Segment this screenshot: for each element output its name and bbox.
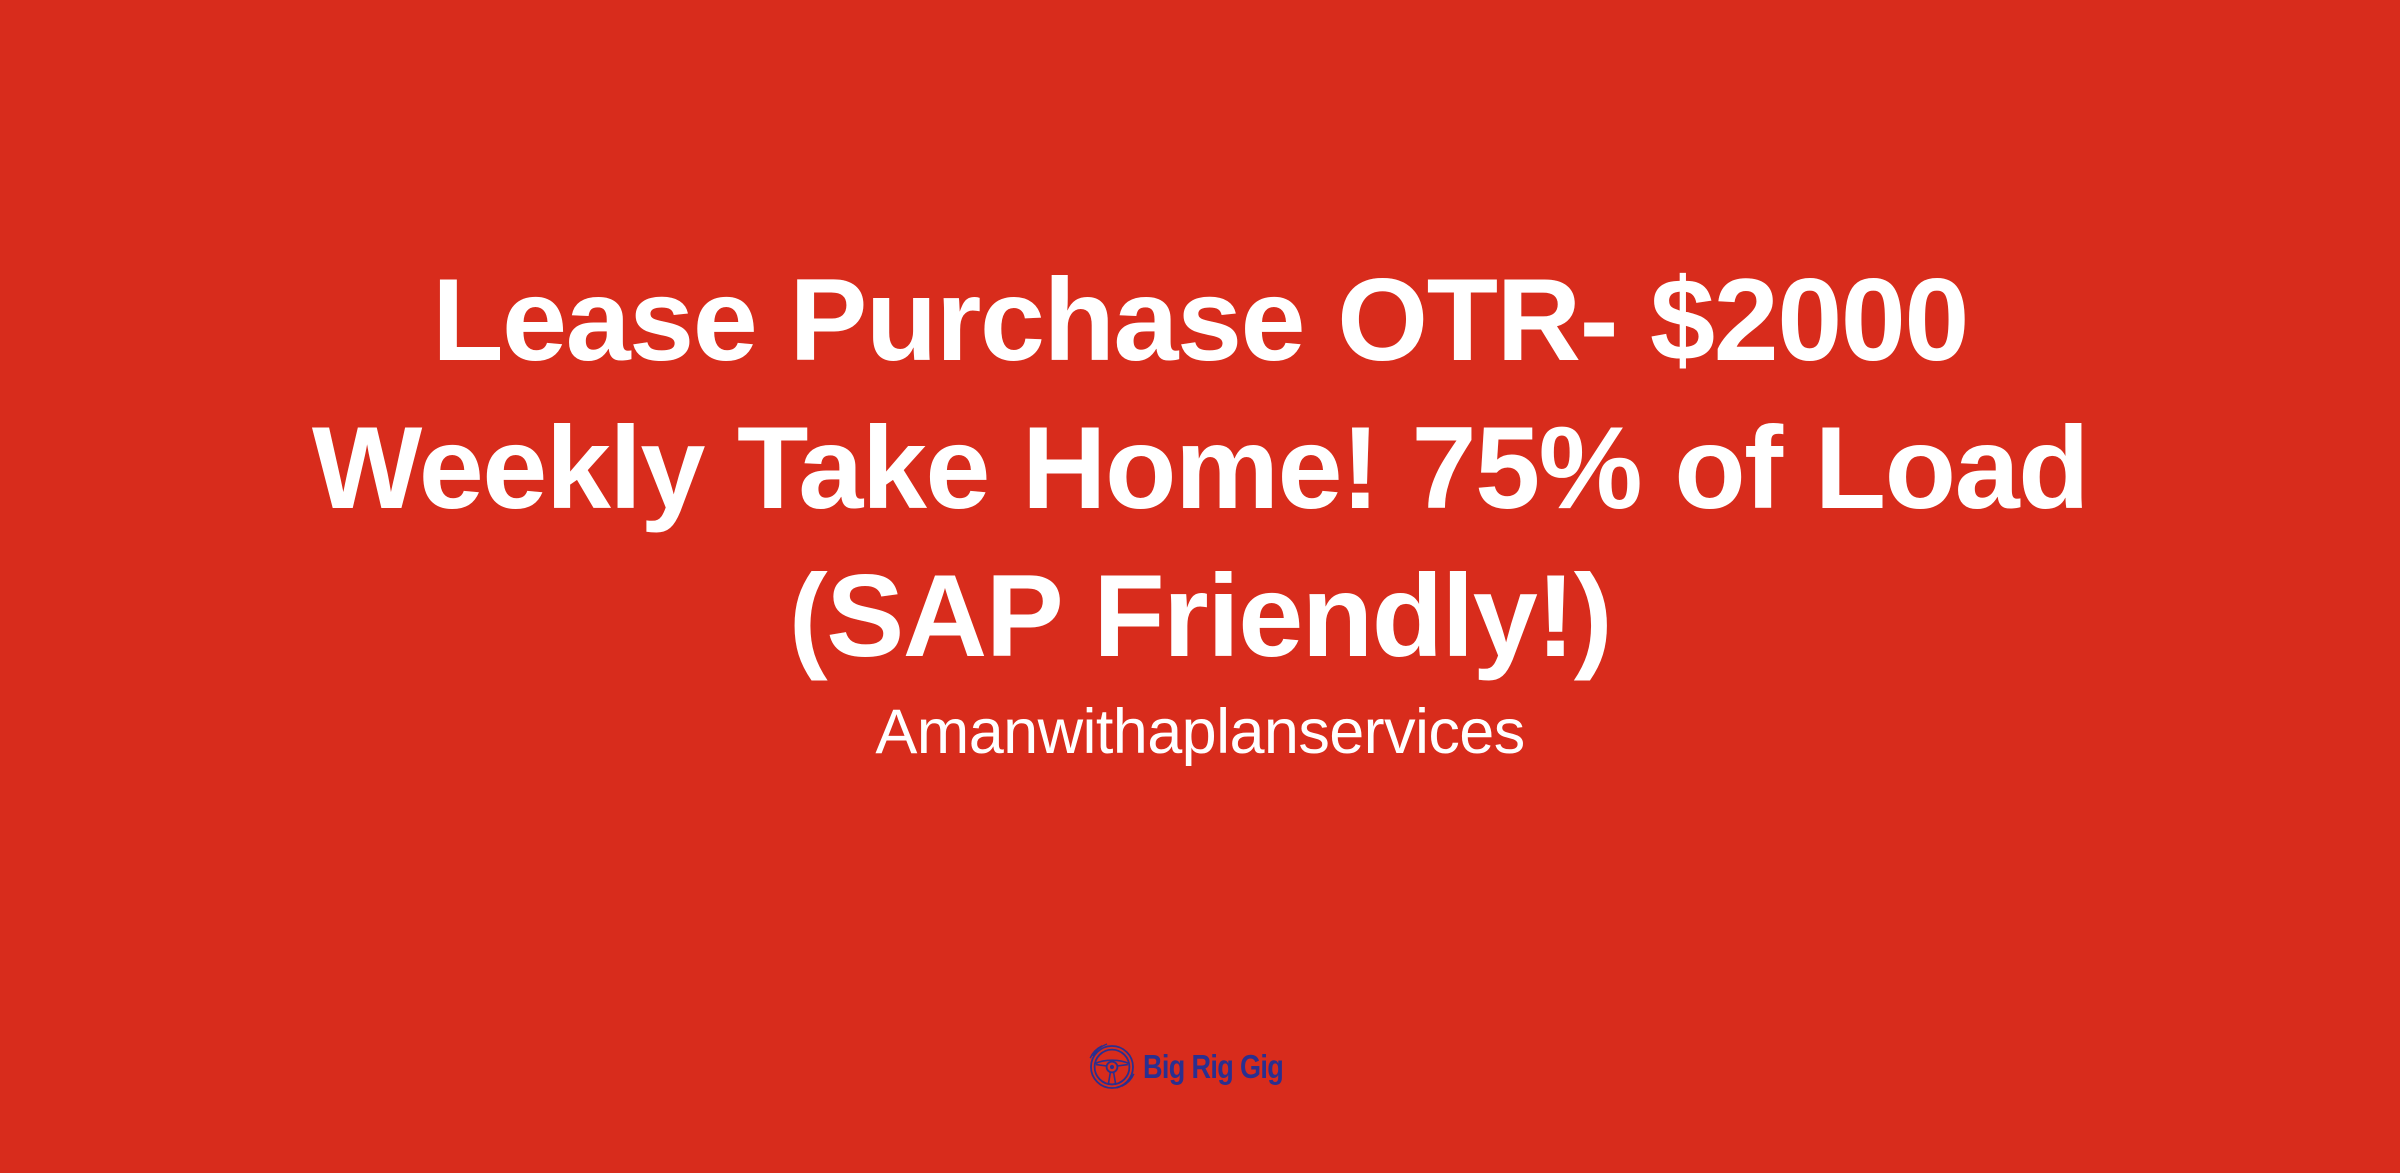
steering-wheel-icon (1086, 1040, 1138, 1092)
job-title: Lease Purchase OTR- $2000 Weekly Take Ho… (0, 246, 2400, 690)
headline-block: Lease Purchase OTR- $2000 Weekly Take Ho… (0, 246, 2400, 774)
job-listing-banner: Lease Purchase OTR- $2000 Weekly Take Ho… (0, 0, 2400, 1173)
company-name: Amanwithaplanservices (0, 690, 2400, 774)
brand-logo[interactable]: Big Rig Gig (0, 1036, 2400, 1096)
brand-wordmark: Big Rig Gig (1143, 1050, 1283, 1083)
